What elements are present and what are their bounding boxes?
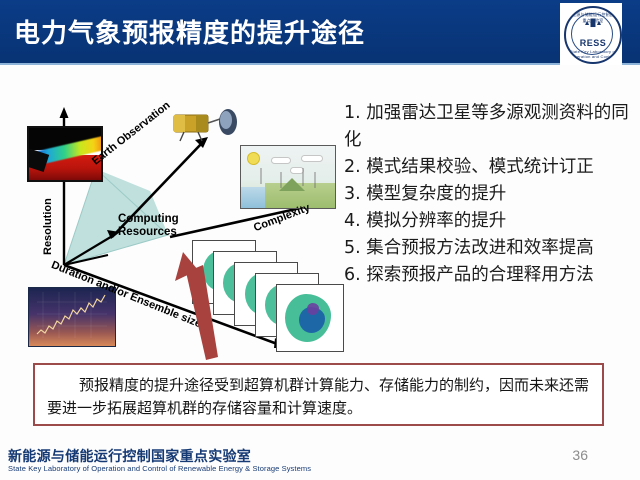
list-item: 4. 模拟分辨率的提升 bbox=[344, 208, 636, 235]
resolution-axis-arrowhead bbox=[60, 107, 69, 118]
rising-time-series-chart-thumbnail bbox=[28, 287, 116, 347]
list-item: 3. 模型复杂度的提升 bbox=[344, 181, 636, 208]
page-title: 电力气象预报精度的提升途径 bbox=[14, 13, 365, 50]
page-number: 36 bbox=[572, 447, 588, 463]
summary-callout-box: 预报精度的提升途径受到超算机群计算能力、存储能力的制约，因而未来还需要进一步拓展… bbox=[33, 363, 604, 426]
title-accent-line bbox=[0, 63, 640, 65]
computing-resources-diagram: Earth Observation Complexity Resolution … bbox=[18, 95, 348, 355]
computing-resources-label: Computing Resources bbox=[118, 213, 179, 239]
summary-callout-text: 预报精度的提升途径受到超算机群计算能力、存储能力的制约，因而未来还需要进一步拓展… bbox=[47, 374, 592, 420]
computing-resources-label-line1: Computing bbox=[118, 213, 179, 225]
list-item: 6. 探索预报产品的合理释用方法 bbox=[344, 262, 636, 289]
footer-lab-name-chinese: 新能源与储能运行控制国家重点实验室 bbox=[8, 446, 251, 466]
earthsys-flux-arrows bbox=[241, 146, 335, 208]
seal-acronym: RESS bbox=[566, 38, 620, 48]
ress-seal-icon: 新能源与储能运行控制国家重点实验室 ▲█▲ RESS State Key Lab… bbox=[564, 6, 622, 64]
ensemble-forecast-plots-stack-thumbnail bbox=[192, 240, 346, 346]
list-item: 1. 加强雷达卫星等多源观测资料的同化 bbox=[344, 100, 636, 154]
logo-container: 新能源与储能运行控制国家重点实验室 ▲█▲ RESS State Key Lab… bbox=[560, 3, 622, 65]
satellite-spacecraft-icon bbox=[168, 103, 244, 145]
ensemble-plot-card bbox=[276, 284, 344, 352]
footer-lab-name-english: State Key Laboratory of Operation and Co… bbox=[8, 464, 311, 473]
timeseries-plot bbox=[29, 288, 115, 346]
improvement-approaches-list: 1. 加强雷达卫星等多源观测资料的同化 2. 模式结果校验、模式统计订正 3. … bbox=[344, 100, 636, 289]
list-item: 5. 集合预报方法改进和效率提高 bbox=[344, 235, 636, 262]
seal-emblem-glyph: ▲█▲ bbox=[566, 20, 620, 28]
resolution-axis-label: Resolution bbox=[42, 198, 54, 255]
satellite-rainbow-map-thumbnail bbox=[27, 126, 103, 182]
earth-system-water-cycle-diagram-thumbnail bbox=[240, 145, 336, 209]
seal-arc-bottom-text: State Key Laboratory of Operation and Co… bbox=[566, 49, 620, 59]
list-item: 2. 模式结果校验、模式统计订正 bbox=[344, 154, 636, 181]
computing-resources-label-line2: Resources bbox=[118, 226, 177, 238]
